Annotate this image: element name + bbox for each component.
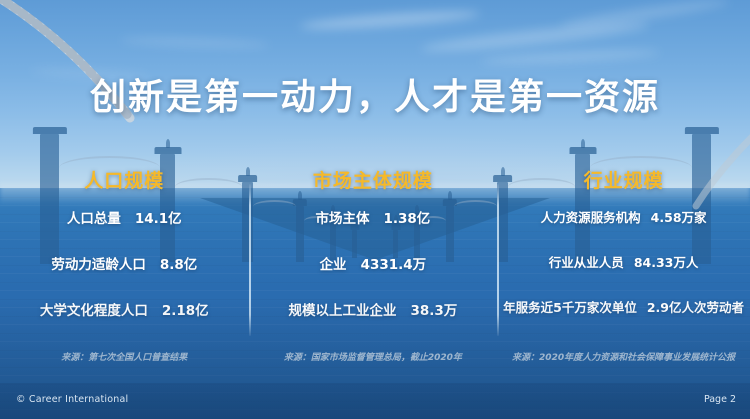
column-title: 行业规模	[584, 166, 664, 193]
page-number: Page 2	[704, 394, 736, 405]
stat-value: 4.58万家	[651, 210, 707, 225]
stat-row: 人力资源服务机构4.58万家	[541, 207, 707, 226]
stat-row: 行业从业人员84.33万人	[549, 252, 699, 271]
stat-value: 84.33万人	[634, 255, 699, 270]
stat-value: 1.38亿	[383, 211, 430, 227]
page-title: 创新是第一动力，人才是第一资源	[0, 68, 750, 120]
stat-label: 劳动力适龄人口	[51, 257, 146, 273]
stat-row: 人口总量14.1亿	[67, 207, 182, 227]
stat-label: 市场主体	[315, 211, 369, 227]
copyright-text: © Career International	[16, 394, 128, 405]
stat-value: 8.8亿	[160, 257, 197, 273]
stat-label: 人口总量	[67, 211, 121, 227]
slide: 创新是第一动力，人才是第一资源 人口规模 人口总量14.1亿 劳动力适龄人口8.…	[0, 0, 750, 419]
slide-footer: © Career International Page 2	[0, 383, 750, 419]
stat-row: 劳动力适龄人口8.8亿	[51, 253, 197, 273]
stat-label: 企业	[320, 257, 347, 273]
cloud-icon	[120, 35, 270, 49]
column-title: 人口规模	[84, 166, 164, 193]
stat-value: 4331.4万	[361, 257, 427, 273]
cloud-icon	[480, 47, 660, 66]
cloud-icon	[300, 8, 480, 33]
stat-value: 14.1亿	[135, 211, 182, 227]
stat-row: 市场主体1.38亿	[315, 207, 430, 227]
column-title: 市场主体规模	[313, 166, 433, 193]
stat-label: 行业从业人员	[549, 255, 624, 270]
stat-label: 人力资源服务机构	[541, 210, 641, 225]
stat-row: 企业4331.4万	[320, 253, 427, 273]
